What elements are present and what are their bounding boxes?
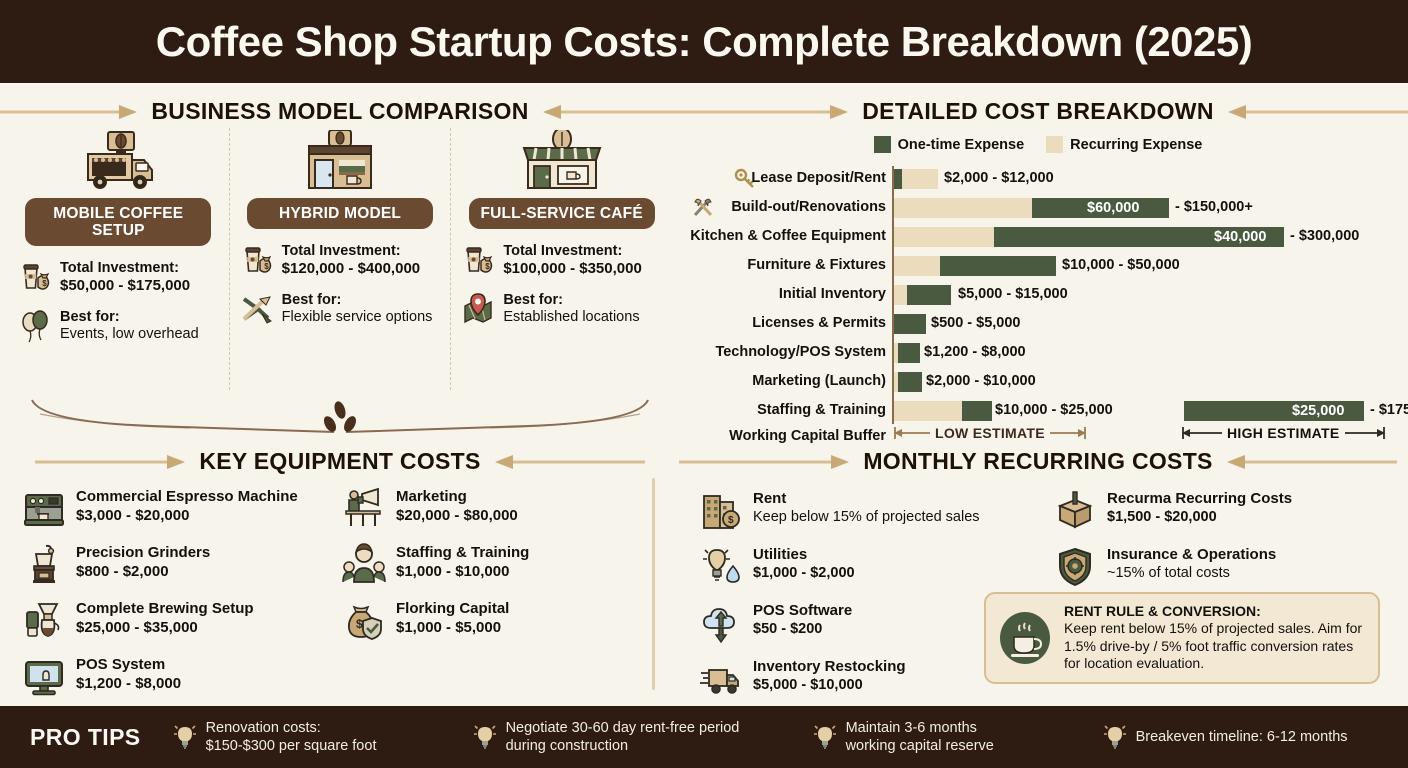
shield-gear-icon <box>1054 546 1096 588</box>
section-title: KEY EQUIPMENT COSTS <box>199 448 480 475</box>
pos-monitor-icon <box>22 654 66 698</box>
equipment-name: POS System <box>76 656 181 674</box>
equipment-range: $1,000 - $5,000 <box>396 618 509 637</box>
chart-row-label: Licenses & Permits <box>752 311 886 336</box>
cafe-awning-icon <box>457 128 666 190</box>
chart-value-label: $10,000 - $50,000 <box>1062 255 1180 275</box>
business-model-card-hybrid: HYBRID MODEL $ Total Investment: $120,00… <box>229 128 451 390</box>
arrow-right-icon <box>668 105 848 119</box>
svg-text:$: $ <box>356 617 363 631</box>
chart-row: Lease Deposit/Rent $2,000 - $12,000 <box>672 166 1402 191</box>
arrow-left-icon <box>1227 455 1397 469</box>
equipment-name: Florking Capital <box>396 600 509 618</box>
legend-label: One-time Expense <box>898 137 1025 153</box>
equipment-item: Precision Grinders $800 - $2,000 <box>22 542 342 586</box>
coffee-cup-money-icon: $ <box>18 260 52 294</box>
pro-tip-item: Breakeven timeline: 6-12 months <box>1103 723 1348 751</box>
equipment-name: Staffing & Training <box>396 544 529 562</box>
equipment-column-right: Marketing $20,000 - $80,000 <box>342 486 662 710</box>
monthly-sub: $1,500 - $20,000 <box>1107 508 1292 526</box>
chart-inline-label-high: $25,000 <box>1292 401 1344 421</box>
arrow-left-icon <box>1228 105 1408 119</box>
arrow-right-icon <box>35 455 185 469</box>
pro-tip-item: Renovation costs: $150-$300 per square f… <box>173 719 473 755</box>
legend-item-recurring: Recurring Expense <box>1046 136 1202 153</box>
tools-icon <box>692 197 714 219</box>
vertical-divider <box>652 478 655 690</box>
monthly-sub: ~15% of total costs <box>1107 564 1276 582</box>
section-title: MONTHLY RECURRING COSTS <box>863 448 1212 475</box>
coffee-cup-money-icon: $ <box>461 243 495 277</box>
chart-row-label: Marketing (Launch) <box>752 369 886 394</box>
lightbulb-icon <box>1103 723 1127 751</box>
staff-group-icon <box>342 542 386 586</box>
pour-over-brewer-icon <box>22 598 66 642</box>
key-equipment-grid: Commercial Espresso Machine $3,000 - $20… <box>22 486 662 710</box>
chart-row: Furniture & Fixtures $10,000 - $50,000 <box>672 253 1402 278</box>
bestfor-label: Best for: <box>282 292 433 309</box>
model-bestfor: Best for: Established locations <box>457 292 666 326</box>
model-investment: $ Total Investment: $50,000 - $175,000 <box>14 260 223 295</box>
cost-breakdown-chart: Lease Deposit/Rent $2,000 - $12,000 Buil… <box>672 166 1402 448</box>
pro-tips-title: PRO TIPS <box>30 724 141 751</box>
legend-item-onetime: One-time Expense <box>874 136 1025 153</box>
pro-tips-list: Renovation costs: $150-$300 per square f… <box>141 719 1408 755</box>
pro-tip-item: Negotiate 30-60 day rent-free period dur… <box>473 719 813 755</box>
chart-row: Technology/POS System $1,200 - $8,000 <box>672 340 1402 365</box>
pro-tip-text: Renovation costs: $150-$300 per square f… <box>206 719 377 755</box>
coffee-truck-icon <box>14 128 223 190</box>
equipment-item: Staffing & Training $1,000 - $10,000 <box>342 542 662 586</box>
money-bag-shield-icon: $ <box>342 598 386 642</box>
rent-rule-box: RENT RULE & CONVERSION: Keep rent below … <box>984 592 1380 684</box>
business-model-card-fullservice: FULL-SERVICE CAFÉ $ Total Investment: $1… <box>450 128 672 390</box>
monthly-sub: $50 - $200 <box>753 620 852 638</box>
model-investment: $ Total Investment: $120,000 - $400,000 <box>236 243 445 278</box>
building-money-icon: $ <box>700 490 742 532</box>
equipment-name: Marketing <box>396 488 518 506</box>
low-estimate-bracket: LOW ESTIMATE <box>894 422 1086 444</box>
chart-row-label: Furniture & Fixtures <box>747 253 886 278</box>
delivery-truck-icon <box>700 658 742 700</box>
monthly-name: Inventory Restocking <box>753 658 906 676</box>
monthly-name: POS Software <box>753 602 852 620</box>
title-bar: Coffee Shop Startup Costs: Complete Brea… <box>0 0 1408 83</box>
model-investment: $ Total Investment: $100,000 - $350,000 <box>457 243 666 278</box>
cost-breakdown-heading: DETAILED COST BREAKDOWN <box>680 98 1396 125</box>
rent-rule-title: RENT RULE & CONVERSION: <box>1064 603 1366 620</box>
chart-value-label: - $300,000 <box>1290 226 1359 246</box>
chart-row: Licenses & Permits $500 - $5,000 <box>672 311 1402 336</box>
legend-label: Recurring Expense <box>1070 137 1202 153</box>
arrow-left-icon <box>1182 426 1222 440</box>
model-badge: MOBILE COFFEE SETUP <box>25 198 211 246</box>
arrow-right-icon <box>679 455 849 469</box>
business-model-heading: BUSINESS MODEL COMPARISON <box>10 98 670 125</box>
equipment-name: Commercial Espresso Machine <box>76 488 298 506</box>
chart-row-label: Staffing & Training <box>757 398 886 423</box>
arrow-right-icon <box>0 105 137 119</box>
monthly-name: Insurance & Operations <box>1107 546 1276 564</box>
bestfor-label: Best for: <box>503 292 639 309</box>
model-bestfor: Best for: Events, low overhead <box>14 309 223 343</box>
equipment-range: $1,000 - $10,000 <box>396 562 529 581</box>
business-model-card-mobile: MOBILE COFFEE SETUP $ Total Investment: … <box>8 128 229 390</box>
monthly-sub: Keep below 15% of projected sales <box>753 508 980 526</box>
equipment-item: POS System $1,200 - $8,000 <box>22 654 342 698</box>
pro-tip-text: Negotiate 30-60 day rent-free period dur… <box>506 719 740 755</box>
model-badge: HYBRID MODEL <box>247 198 433 229</box>
chart-value-label: $500 - $5,000 <box>931 313 1021 333</box>
open-box-icon <box>1054 490 1096 532</box>
equipment-range: $1,200 - $8,000 <box>76 674 181 693</box>
espresso-machine-icon <box>22 486 66 530</box>
svg-text:$: $ <box>42 279 47 288</box>
bestfor-value: Flexible service options <box>282 309 433 325</box>
storefront-icon <box>236 128 445 190</box>
chart-row: Marketing (Launch) $2,000 - $10,000 <box>672 369 1402 394</box>
coffee-cup-badge-icon <box>998 611 1052 665</box>
equipment-name: Precision Grinders <box>76 544 210 562</box>
monthly-item: Recurma Recurring Costs $1,500 - $20,000 <box>1054 490 1394 532</box>
section-title: BUSINESS MODEL COMPARISON <box>151 98 528 125</box>
arrow-left-icon <box>495 455 645 469</box>
equipment-column-left: Commercial Espresso Machine $3,000 - $20… <box>22 486 342 710</box>
chart-row-label: Kitchen & Coffee Equipment <box>690 224 886 249</box>
equipment-name: Complete Brewing Setup <box>76 600 254 618</box>
lightbulb-icon <box>173 723 197 751</box>
chart-inline-label: $40,000 <box>1214 227 1266 247</box>
estimate-label: LOW ESTIMATE <box>935 425 1045 441</box>
svg-text:$: $ <box>728 515 734 526</box>
equipment-item: $ Florking Capital $1,000 - $5,000 <box>342 598 662 642</box>
equipment-range: $3,000 - $20,000 <box>76 506 298 525</box>
investment-value: $50,000 - $175,000 <box>60 277 190 294</box>
estimate-brackets: LOW ESTIMATE HIGH ESTIMATE <box>894 422 1402 446</box>
estimate-label: HIGH ESTIMATE <box>1227 425 1340 441</box>
megaphone-person-icon <box>342 486 386 530</box>
monthly-name: Rent <box>753 490 980 508</box>
equipment-range: $800 - $2,000 <box>76 562 210 581</box>
equipment-item: Complete Brewing Setup $25,000 - $35,000 <box>22 598 342 642</box>
lightbulb-icon <box>813 723 837 751</box>
investment-value: $120,000 - $400,000 <box>282 260 420 277</box>
chart-row-label: Working Capital Buffer <box>729 424 886 449</box>
shuffle-arrows-icon <box>240 292 274 326</box>
chart-value-label: $10,000 - $25,000 <box>995 400 1113 420</box>
coffee-cup-money-icon: $ <box>240 243 274 277</box>
chart-value-label-high: - $175,000 <box>1370 400 1408 420</box>
monthly-item: Insurance & Operations ~15% of total cos… <box>1054 546 1394 588</box>
page-title: Coffee Shop Startup Costs: Complete Brea… <box>156 18 1253 66</box>
model-bestfor: Best for: Flexible service options <box>236 292 445 326</box>
chart-value-label: $2,000 - $10,000 <box>926 371 1036 391</box>
model-badge: FULL-SERVICE CAFÉ <box>469 198 655 229</box>
chart-value-label: - $150,000+ <box>1175 197 1253 217</box>
lightbulb-water-icon <box>700 546 742 588</box>
chart-row: Staffing & Training $25,000 $10,000 - $2… <box>672 398 1402 423</box>
chart-inline-label: $60,000 <box>1087 198 1139 218</box>
pro-tip-text: Breakeven timeline: 6-12 months <box>1136 728 1348 746</box>
cloud-sync-icon <box>700 602 742 644</box>
rent-rule-body: Keep rent below 15% of projected sales. … <box>1064 620 1366 673</box>
chart-row-label: Technology/POS System <box>715 340 886 365</box>
bestfor-value: Established locations <box>503 309 639 325</box>
chart-value-label: $2,000 - $12,000 <box>944 168 1054 188</box>
chart-row: Initial Inventory $5,000 - $15,000 <box>672 282 1402 307</box>
key-equipment-heading: KEY EQUIPMENT COSTS <box>10 448 670 475</box>
map-pin-icon <box>461 292 495 326</box>
business-model-columns: MOBILE COFFEE SETUP $ Total Investment: … <box>8 128 672 390</box>
svg-text:$: $ <box>264 262 269 271</box>
balloons-icon <box>18 309 52 343</box>
chart-value-label: $5,000 - $15,000 <box>958 284 1068 304</box>
svg-text:$: $ <box>486 262 491 271</box>
investment-value: $100,000 - $350,000 <box>503 260 641 277</box>
pro-tip-text: Maintain 3-6 months working capital rese… <box>846 719 994 755</box>
legend-swatch-beige <box>1046 136 1063 153</box>
high-estimate-bracket: HIGH ESTIMATE <box>1182 422 1385 444</box>
monthly-recurring-heading: MONTHLY RECURRING COSTS <box>680 448 1396 475</box>
monthly-name: Recurma Recurring Costs <box>1107 490 1292 508</box>
section-title: DETAILED COST BREAKDOWN <box>862 98 1213 125</box>
coffee-bean-divider <box>10 392 670 438</box>
lightbulb-icon <box>473 723 497 751</box>
monthly-name: Utilities <box>753 546 855 564</box>
monthly-sub: $5,000 - $10,000 <box>753 676 906 694</box>
monthly-item: Utilities $1,000 - $2,000 <box>700 546 1040 588</box>
arrow-left-icon <box>894 426 930 440</box>
investment-label: Total Investment: <box>503 243 641 260</box>
equipment-item: Marketing $20,000 - $80,000 <box>342 486 662 530</box>
monthly-item: $ Rent Keep below 15% of projected sales <box>700 490 1040 532</box>
equipment-item: Commercial Espresso Machine $3,000 - $20… <box>22 486 342 530</box>
investment-label: Total Investment: <box>60 260 190 277</box>
bestfor-label: Best for: <box>60 309 199 326</box>
arrow-right-icon <box>1050 426 1086 440</box>
pro-tips-footer: PRO TIPS Renovation costs: $150-$300 per… <box>0 706 1408 768</box>
chart-row-label: Initial Inventory <box>779 282 886 307</box>
chart-row: Kitchen & Coffee Equipment $40,000 - $30… <box>672 224 1402 249</box>
legend-swatch-green <box>874 136 891 153</box>
bestfor-value: Events, low overhead <box>60 326 199 342</box>
coffee-grinder-icon <box>22 542 66 586</box>
pro-tip-item: Maintain 3-6 months working capital rese… <box>813 719 1103 755</box>
chart-row-label: Build-out/Renovations <box>731 195 886 220</box>
chart-row-label: Lease Deposit/Rent <box>751 166 886 191</box>
chart-legend: One-time Expense Recurring Expense <box>680 136 1396 153</box>
chart-value-label: $1,200 - $8,000 <box>924 342 1026 362</box>
arrow-right-icon <box>1345 426 1385 440</box>
equipment-range: $20,000 - $80,000 <box>396 506 518 525</box>
infographic-page: Coffee Shop Startup Costs: Complete Brea… <box>0 0 1408 768</box>
chart-row: Build-out/Renovations $60,000 - $150,000… <box>672 195 1402 220</box>
investment-label: Total Investment: <box>282 243 420 260</box>
monthly-sub: $1,000 - $2,000 <box>753 564 855 582</box>
equipment-range: $25,000 - $35,000 <box>76 618 254 637</box>
